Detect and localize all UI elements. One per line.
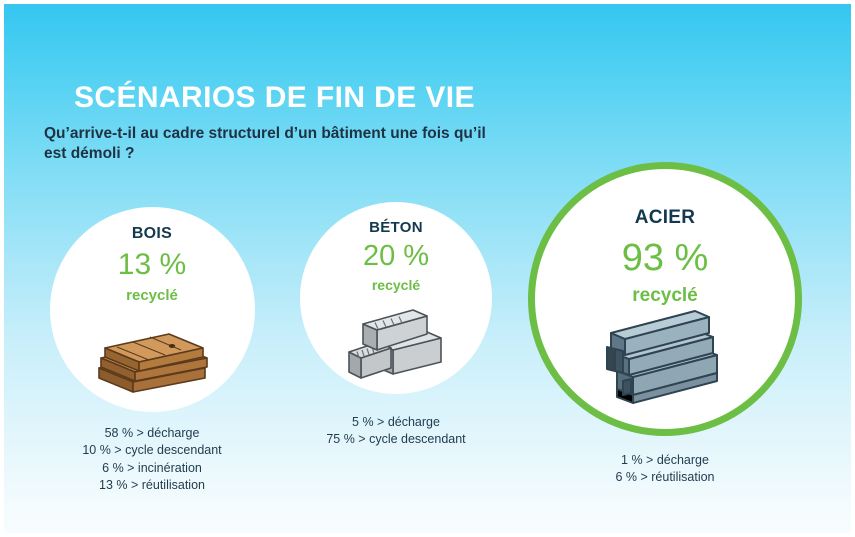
header: SCÉNARIOS DE FIN DE VIE Qu’arrive-t-il a…: [72, 82, 592, 165]
stat-item: 75 % > cycle descendant: [297, 431, 495, 448]
recycled-word-bois: recyclé: [50, 280, 255, 303]
material-card-bois: BOIS 13 % recyclé: [46, 207, 258, 494]
material-card-acier: ACIER 93 % recyclé: [528, 162, 802, 487]
stats-list-beton: 5 % > décharge 75 % > cycle descendant: [297, 414, 495, 449]
stat-item: 6 % > réutilisation: [528, 469, 802, 486]
material-label-bois: BOIS: [50, 207, 255, 243]
circle-bois: BOIS 13 % recyclé: [50, 207, 255, 412]
concrete-blocks-icon: [300, 306, 492, 382]
page-subtitle: Qu’arrive-t-il au cadre structurel d’un …: [44, 124, 499, 166]
recycled-word-beton: recyclé: [300, 271, 492, 292]
steel-beams-icon: [535, 303, 795, 407]
stat-item: 5 % > décharge: [297, 414, 495, 431]
stat-item: 10 % > cycle descendant: [46, 442, 258, 459]
recycled-percent-beton: 20 %: [300, 236, 492, 271]
stat-item: 6 % > incinération: [46, 460, 258, 477]
material-label-beton: BÉTON: [300, 202, 492, 236]
stats-list-bois: 58 % > décharge 10 % > cycle descendant …: [46, 425, 258, 494]
circle-beton: BÉTON 20 % recyclé: [300, 202, 492, 394]
material-label-acier: ACIER: [535, 169, 795, 229]
material-card-beton: BÉTON 20 % recyclé: [297, 202, 495, 449]
infographic-canvas: SCÉNARIOS DE FIN DE VIE Qu’arrive-t-il a…: [0, 0, 855, 537]
circle-acier: ACIER 93 % recyclé: [528, 162, 802, 436]
recycled-percent-acier: 93 %: [535, 229, 795, 277]
stat-item: 1 % > décharge: [528, 452, 802, 469]
stat-item: 13 % > réutilisation: [46, 477, 258, 494]
recycled-percent-bois: 13 %: [50, 243, 255, 280]
stats-list-acier: 1 % > décharge 6 % > réutilisation: [528, 452, 802, 487]
stat-item: 58 % > décharge: [46, 425, 258, 442]
page-title: SCÉNARIOS DE FIN DE VIE: [74, 82, 592, 114]
wood-planks-icon: [50, 320, 255, 394]
recycled-word-acier: recyclé: [535, 277, 795, 305]
